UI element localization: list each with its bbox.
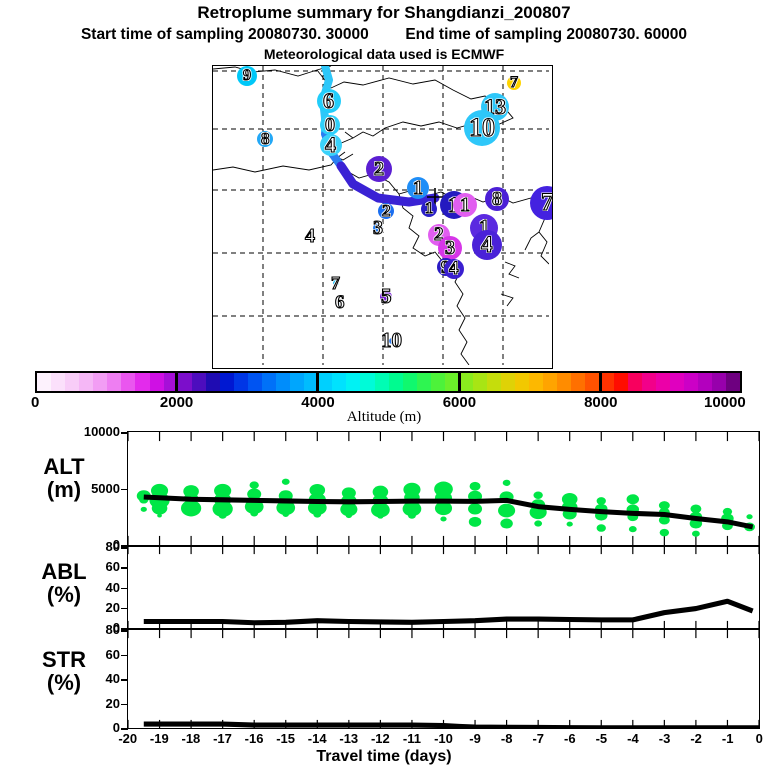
- colorbar-swatch: [670, 373, 684, 391]
- x-tick-label: -10: [429, 731, 459, 746]
- str-panel-graphics: [128, 630, 759, 728]
- x-tick-label: -11: [397, 731, 427, 746]
- colorbar-swatch: [529, 373, 543, 391]
- alt-scatter-point: [469, 517, 481, 527]
- map-marker: 11: [413, 178, 423, 198]
- colorbar-swatch: [543, 373, 557, 391]
- colorbar-swatch: [37, 373, 51, 391]
- alt-scatter-point: [157, 514, 162, 518]
- alt-scatter-point: [313, 511, 321, 517]
- y-tick-mark: [121, 630, 128, 632]
- map-marker-label: 77: [541, 190, 553, 215]
- x-tick-label: 0: [744, 731, 768, 746]
- colorbar-swatch: [220, 373, 234, 391]
- colorbar-swatch: [431, 373, 445, 391]
- x-tick-label: -9: [460, 731, 490, 746]
- colorbar-swatch: [375, 373, 389, 391]
- str-panel[interactable]: [127, 629, 760, 729]
- alt-scatter-point: [188, 511, 194, 516]
- map-marker: 22: [374, 159, 384, 179]
- colorbar-swatch: [276, 373, 290, 391]
- map-marker-label: 66: [335, 293, 345, 312]
- colorbar-swatch: [628, 373, 642, 391]
- x-tick-label: -7: [523, 731, 553, 746]
- map-marker: 1010: [469, 115, 495, 141]
- colorbar-swatch: [501, 373, 515, 391]
- colorbar-swatch: [712, 373, 726, 391]
- alt-scatter-point: [567, 522, 573, 527]
- alt-scatter-point: [470, 482, 481, 491]
- alt-y-tick-label: 5000: [74, 481, 120, 496]
- alt-scatter-point: [627, 494, 639, 504]
- map-marker-label: 44: [481, 233, 493, 256]
- map-marker: 11: [460, 195, 470, 215]
- map-marker-label: 11: [425, 201, 433, 217]
- y-tick-mark: [121, 489, 128, 491]
- map-marker-label: 66: [323, 90, 334, 112]
- x-tick-label: -6: [555, 731, 585, 746]
- alt-scatter-point: [282, 479, 290, 485]
- alt-scatter-point: [377, 514, 383, 519]
- alt-scatter-point: [283, 512, 289, 517]
- map-marker-label: 99: [243, 68, 251, 84]
- y-tick-mark: [121, 608, 128, 610]
- colorbar-swatch: [79, 373, 93, 391]
- colorbar-swatch: [585, 373, 599, 391]
- y-tick-mark: [121, 588, 128, 590]
- map-marker-label: 1010: [381, 330, 402, 351]
- colorbar-swatch: [150, 373, 164, 391]
- colorbar-divider: [175, 371, 178, 393]
- colorbar-swatch: [487, 373, 501, 391]
- colorbar-swatch: [346, 373, 360, 391]
- alt-scatter-point: [498, 504, 515, 518]
- alt-scatter-point: [440, 517, 446, 522]
- abl-panel-graphics: [128, 547, 759, 628]
- map-marker: 77: [541, 190, 553, 215]
- x-tick-label: -3: [650, 731, 680, 746]
- alt-scatter-point: [597, 497, 606, 505]
- x-tick-label: -17: [207, 731, 237, 746]
- map-marker: 33: [445, 238, 455, 258]
- map-marker-label: 22: [382, 202, 391, 219]
- trend-line: [144, 724, 759, 728]
- page-title: Retroplume summary for Shangdianzi_20080…: [0, 3, 768, 23]
- map-marker-label: 77: [331, 274, 340, 292]
- map-marker: 77: [331, 274, 340, 292]
- alt-scatter-point: [660, 529, 669, 537]
- alt-scatter-point: [629, 526, 637, 532]
- x-tick-label: -18: [176, 731, 206, 746]
- y-tick-mark: [121, 655, 128, 657]
- str-y-tick-label: 20: [74, 696, 120, 711]
- alt-scatter-point: [250, 510, 258, 516]
- colorbar-swatch: [107, 373, 121, 391]
- colorbar-divider: [316, 371, 319, 393]
- colorbar-swatch: [614, 373, 628, 391]
- colorbar-swatch: [65, 373, 79, 391]
- abl-y-tick-label: 60: [74, 559, 120, 574]
- colorbar-swatch: [684, 373, 698, 391]
- colorbar-swatch: [698, 373, 712, 391]
- alt-scatter-point: [534, 520, 542, 526]
- y-tick-mark: [121, 432, 128, 434]
- colorbar-swatch: [192, 373, 206, 391]
- map-marker: 44: [449, 259, 459, 278]
- map-marker-label: 33: [373, 218, 383, 238]
- str-y-tick-label: 60: [74, 647, 120, 662]
- map-marker-label: 44: [325, 134, 336, 156]
- map-marker: 11: [425, 201, 433, 217]
- colorbar-swatch: [318, 373, 332, 391]
- colorbar-swatch: [656, 373, 670, 391]
- map-marker: 44: [481, 233, 493, 256]
- colorbar-swatch: [234, 373, 248, 391]
- colorbar-swatch: [121, 373, 135, 391]
- map-marker-label: 11: [460, 195, 470, 215]
- x-tick-label: -15: [271, 731, 301, 746]
- y-tick-mark: [121, 704, 128, 706]
- x-tick-label: -13: [334, 731, 364, 746]
- retroplume-map[interactable]: 9966004488131310107722112211111188775522…: [212, 65, 553, 369]
- colorbar-swatch: [557, 373, 571, 391]
- map-marker-label: 77: [510, 75, 518, 91]
- colorbar-divider: [599, 371, 602, 393]
- y-tick-mark: [121, 567, 128, 569]
- map-marker: 44: [325, 134, 336, 156]
- map-marker-label: 44: [305, 226, 315, 246]
- str-y-tick-label: 40: [74, 671, 120, 686]
- alt-panel[interactable]: [127, 431, 760, 546]
- y-tick-mark: [121, 547, 128, 549]
- map-marker: 55: [381, 286, 392, 307]
- map-marker-label: 22: [374, 159, 384, 179]
- alt-scatter-point: [597, 524, 606, 532]
- colorbar-swatch: [262, 373, 276, 391]
- map-marker-label: 11: [413, 178, 423, 198]
- alt-panel-graphics: [128, 432, 759, 545]
- altitude-colorbar: [35, 371, 742, 393]
- met-data-label: Meteorological data used is ECMWF: [0, 46, 768, 62]
- x-tick-label: -8: [492, 731, 522, 746]
- colorbar-swatch: [389, 373, 403, 391]
- colorbar-swatch: [360, 373, 374, 391]
- str-y-tick-label: 80: [74, 622, 120, 637]
- alt-scatter-point: [219, 512, 227, 518]
- alt-scatter-point: [692, 531, 700, 537]
- colorbar-swatch: [403, 373, 417, 391]
- end-time-label: End time of sampling 20080730. 60000: [405, 26, 687, 44]
- map-marker: 88: [261, 130, 270, 147]
- colorbar-swatch: [178, 373, 192, 391]
- map-marker-label: 88: [492, 189, 502, 209]
- map-marker: 33: [373, 218, 383, 238]
- abl-y-tick-label: 20: [74, 600, 120, 615]
- start-time-label: Start time of sampling 20080730. 30000: [81, 26, 369, 44]
- y-tick-mark: [121, 679, 128, 681]
- map-marker-label: 55: [381, 286, 392, 307]
- alt-scatter-point: [468, 503, 482, 514]
- alt-scatter-point: [503, 480, 511, 486]
- map-marker-label: 88: [261, 130, 270, 147]
- abl-y-tick-label: 80: [74, 539, 120, 554]
- sampling-time-row: Start time of sampling 20080730. 30000 E…: [0, 26, 768, 44]
- colorbar-swatch: [51, 373, 65, 391]
- x-tick-label: -14: [302, 731, 332, 746]
- alt-scatter-point: [533, 492, 542, 500]
- x-tick-label: -1: [713, 731, 743, 746]
- abl-y-tick-label: 40: [74, 580, 120, 595]
- map-marker: 66: [323, 90, 334, 112]
- x-axis-title: Travel time (days): [0, 748, 768, 766]
- alt-scatter-point: [746, 514, 752, 519]
- x-tick-label: -19: [144, 731, 174, 746]
- colorbar-swatch: [332, 373, 346, 391]
- map-marker-label: 33: [445, 238, 455, 258]
- map-marker: 88: [492, 189, 502, 209]
- alt-scatter-point: [346, 513, 352, 518]
- map-marker-label: 44: [449, 259, 459, 278]
- map-marker: 44: [305, 226, 315, 246]
- trend-line: [144, 601, 753, 622]
- map-marker: 22: [382, 202, 391, 219]
- colorbar-swatch: [417, 373, 431, 391]
- map-marker: 1010: [381, 330, 402, 351]
- colorbar-swatch: [206, 373, 220, 391]
- colorbar-swatch: [290, 373, 304, 391]
- x-tick-label: -16: [239, 731, 269, 746]
- colorbar-swatch: [135, 373, 149, 391]
- abl-panel[interactable]: [127, 546, 760, 629]
- colorbar-swatch: [571, 373, 585, 391]
- map-marker-label: 1010: [469, 115, 495, 141]
- map-marker: 99: [243, 68, 251, 84]
- alt-y-tick-label: 10000: [74, 424, 120, 439]
- map-marker: 77: [510, 75, 518, 91]
- alt-scatter-point: [408, 512, 416, 518]
- x-tick-label: -5: [586, 731, 616, 746]
- colorbar-swatch: [515, 373, 529, 391]
- x-tick-label: -4: [618, 731, 648, 746]
- colorbar-swatch: [726, 373, 740, 391]
- map-marker: 66: [335, 293, 345, 312]
- alt-scatter-point: [500, 519, 512, 529]
- colorbar-swatch: [93, 373, 107, 391]
- x-tick-label: -20: [113, 731, 143, 746]
- y-tick-mark: [121, 728, 128, 730]
- x-tick-label: -12: [365, 731, 395, 746]
- x-tick-label: -2: [681, 731, 711, 746]
- colorbar-swatch: [642, 373, 656, 391]
- alt-scatter-point: [141, 507, 147, 512]
- alt-scatter-point: [152, 502, 168, 515]
- colorbar-swatch: [459, 373, 473, 391]
- colorbar-swatch: [248, 373, 262, 391]
- alt-scatter-point: [250, 481, 259, 489]
- colorbar-divider: [458, 371, 461, 393]
- colorbar-swatch: [473, 373, 487, 391]
